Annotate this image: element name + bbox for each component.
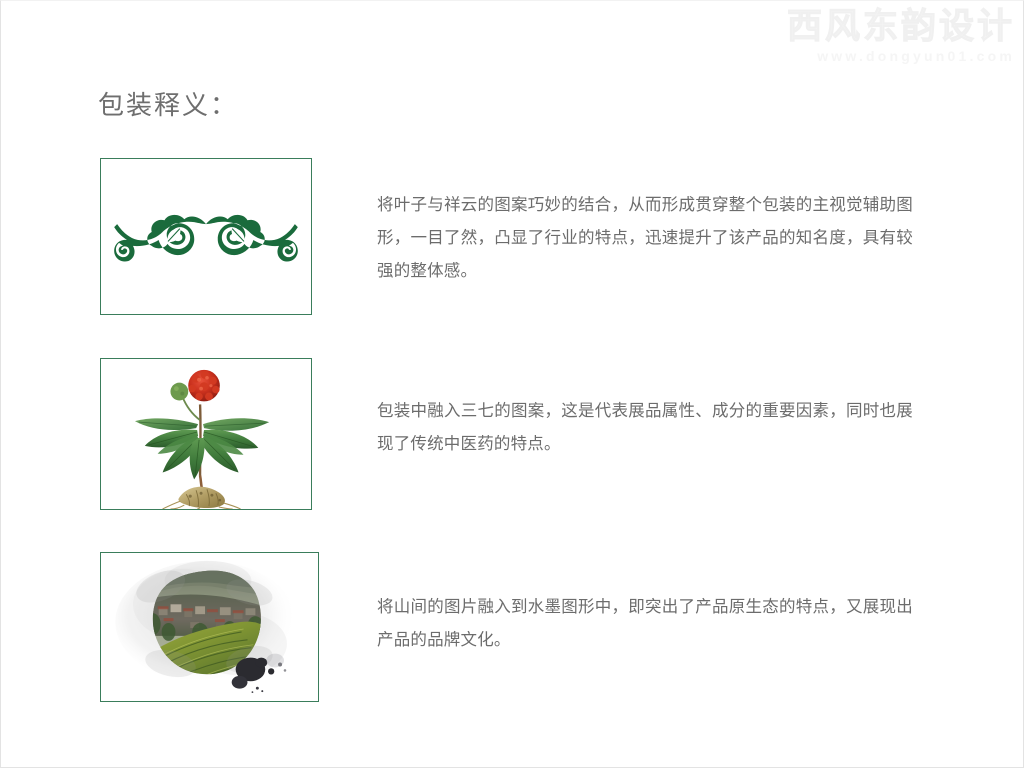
thumbnail-frame-sanqi <box>100 358 312 510</box>
section-description-sanqi: 包装中融入三七的图案，这是代表展品属性、成分的重要因素，同时也展现了传统中医药的… <box>377 394 913 460</box>
thumbnail-frame-inkwash <box>100 552 319 702</box>
section-description-inkwash: 将山间的图片融入到水墨图形中，即突出了产品原生态的特点，又展现出产品的品牌文化。 <box>377 590 913 656</box>
watermark: 西风东韵设计 www.dongyun01.com <box>787 7 1015 65</box>
thumbnail-frame-ornament <box>100 158 312 315</box>
ink-wash-mountain-terrace-icon <box>101 553 318 701</box>
sanqi-plant-illustration-icon <box>101 359 311 509</box>
page-title: 包装释义： <box>98 89 238 123</box>
slide-page: 西风东韵设计 www.dongyun01.com 包装释义： <box>0 0 1024 768</box>
watermark-url-text: www.dongyun01.com <box>787 47 1015 65</box>
watermark-brand-text: 西风东韵设计 <box>787 7 1015 47</box>
green-cloud-leaf-ornament-icon <box>101 159 311 314</box>
section-description-ornament: 将叶子与祥云的图案巧妙的结合，从而形成贯穿整个包装的主视觉辅助图形，一目了然，凸… <box>377 188 913 287</box>
